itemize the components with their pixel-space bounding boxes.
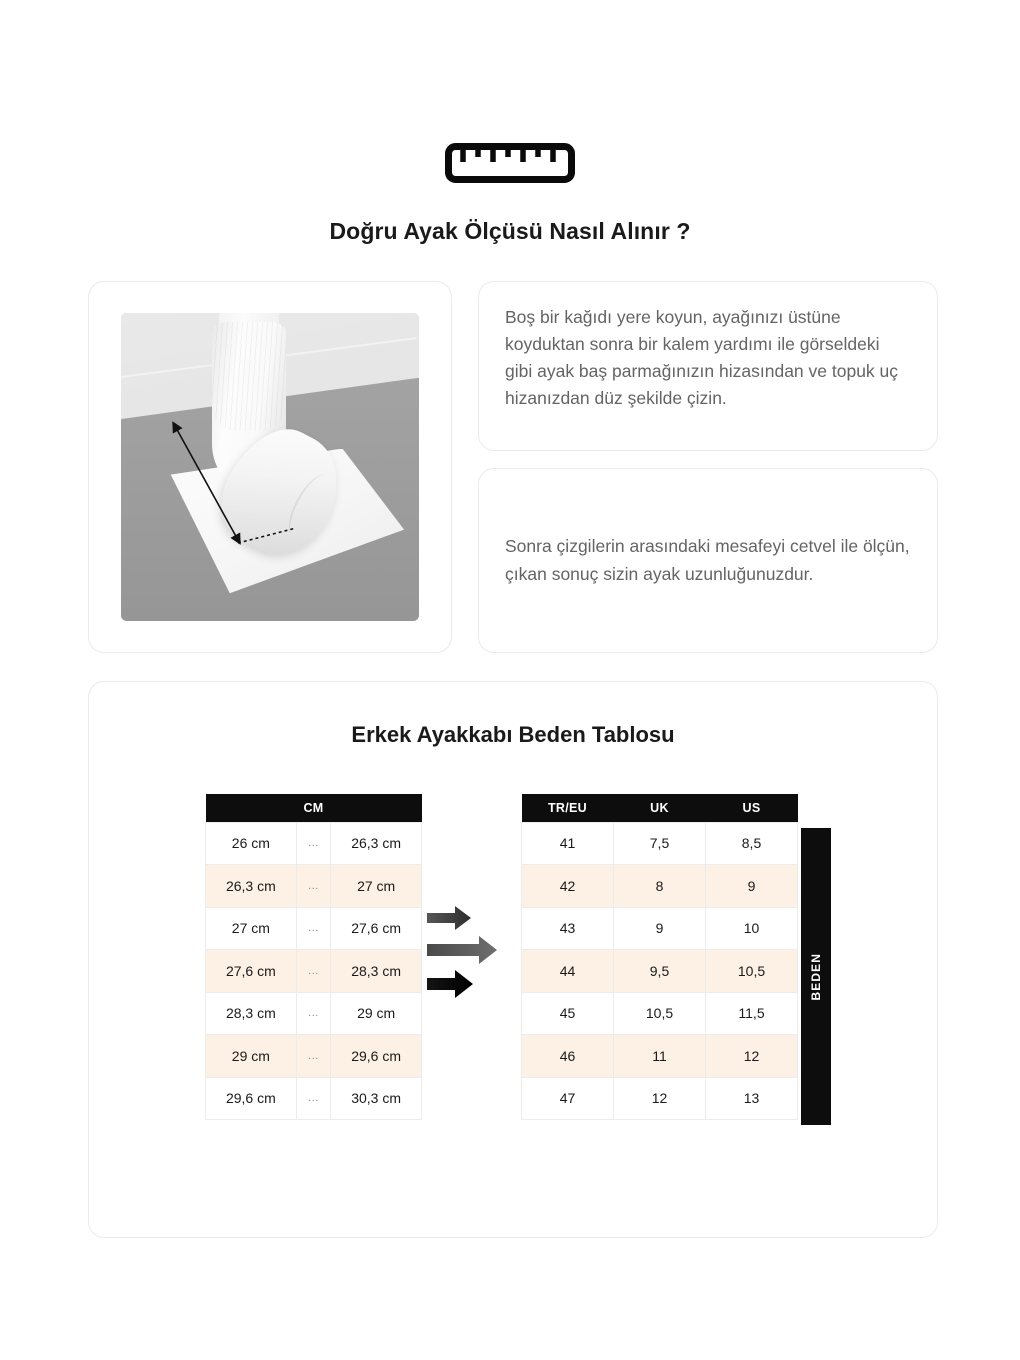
cm-to: 27,6 cm bbox=[331, 907, 422, 950]
table-row: 29,6 cm ... 30,3 cm bbox=[206, 1077, 422, 1120]
cell-us: 10,5 bbox=[706, 950, 798, 993]
size-table-body: 41 7,5 8,5 42 8 9 43 9 10 bbox=[522, 822, 798, 1120]
page-title: Doğru Ayak Ölçüsü Nasıl Alınır ? bbox=[0, 218, 1020, 245]
instruction-text-column: Boş bir kağıdı yere koyun, ayağınızı üst… bbox=[478, 281, 938, 653]
size-guide-page: Doğru Ayak Ölçüsü Nasıl Alınır ? bbox=[0, 0, 1020, 1360]
cell-uk: 7,5 bbox=[614, 822, 706, 865]
cm-from: 26,3 cm bbox=[206, 865, 297, 908]
cell-us: 10 bbox=[706, 907, 798, 950]
cm-table: CM 26 cm ... 26,3 cm 26,3 cm ... 27 cm bbox=[205, 794, 422, 1120]
cm-separator: ... bbox=[296, 822, 331, 865]
table-row: 28,3 cm ... 29 cm bbox=[206, 992, 422, 1035]
foot-measure-photo bbox=[121, 313, 419, 621]
cell-uk: 11 bbox=[614, 1035, 706, 1078]
cell-uk: 12 bbox=[614, 1077, 706, 1120]
table-row: 42 8 9 bbox=[522, 865, 798, 908]
table-row: 43 9 10 bbox=[522, 907, 798, 950]
ruler-icon-container bbox=[0, 143, 1020, 183]
cm-from: 27 cm bbox=[206, 907, 297, 950]
beden-side-label: BEDEN bbox=[801, 828, 831, 1125]
cm-from: 27,6 cm bbox=[206, 950, 297, 993]
cm-separator: ... bbox=[296, 907, 331, 950]
table-row: 26,3 cm ... 27 cm bbox=[206, 865, 422, 908]
cm-from: 29,6 cm bbox=[206, 1077, 297, 1120]
cm-to: 27 cm bbox=[331, 865, 422, 908]
cm-to: 29 cm bbox=[331, 992, 422, 1035]
table-row: 45 10,5 11,5 bbox=[522, 992, 798, 1035]
cell-uk: 9,5 bbox=[614, 950, 706, 993]
cm-table-header-row: CM bbox=[206, 794, 422, 822]
conversion-arrows bbox=[425, 904, 517, 1008]
cell-us: 13 bbox=[706, 1077, 798, 1120]
cell-treu: 42 bbox=[522, 865, 614, 908]
table-row: 44 9,5 10,5 bbox=[522, 950, 798, 993]
header-us: US bbox=[706, 794, 798, 822]
cell-us: 11,5 bbox=[706, 992, 798, 1035]
instructions-section: Boş bir kağıdı yere koyun, ayağınızı üst… bbox=[88, 281, 938, 653]
cm-table-body: 26 cm ... 26,3 cm 26,3 cm ... 27 cm 27 c… bbox=[206, 822, 422, 1120]
cm-header-cell: CM bbox=[206, 794, 422, 822]
cell-us: 8,5 bbox=[706, 822, 798, 865]
cell-uk: 10,5 bbox=[614, 992, 706, 1035]
photo-sock-ribs bbox=[212, 322, 287, 431]
cm-separator: ... bbox=[296, 992, 331, 1035]
cell-treu: 44 bbox=[522, 950, 614, 993]
cm-from: 28,3 cm bbox=[206, 992, 297, 1035]
cell-treu: 43 bbox=[522, 907, 614, 950]
cm-from: 29 cm bbox=[206, 1035, 297, 1078]
table-row: 41 7,5 8,5 bbox=[522, 822, 798, 865]
cell-treu: 47 bbox=[522, 1077, 614, 1120]
arrow-right-icon bbox=[427, 906, 471, 930]
cm-from: 26 cm bbox=[206, 822, 297, 865]
cell-treu: 46 bbox=[522, 1035, 614, 1078]
cell-uk: 9 bbox=[614, 907, 706, 950]
size-table-header-row: TR/EU UK US bbox=[522, 794, 798, 822]
table-row: 29 cm ... 29,6 cm bbox=[206, 1035, 422, 1078]
cm-to: 30,3 cm bbox=[331, 1077, 422, 1120]
instruction-card-2: Sonra çizgilerin arasındaki mesafeyi cet… bbox=[478, 468, 938, 653]
size-table-card: Erkek Ayakkabı Beden Tablosu CM 26 cm ..… bbox=[88, 681, 938, 1238]
beden-side-label-text: BEDEN bbox=[809, 953, 823, 1001]
arrow-group-icon bbox=[425, 904, 517, 1008]
size-table-title: Erkek Ayakkabı Beden Tablosu bbox=[89, 722, 937, 748]
cell-treu: 45 bbox=[522, 992, 614, 1035]
size-conversion-table: TR/EU UK US 41 7,5 8,5 42 8 9 bbox=[521, 794, 798, 1120]
header-treu: TR/EU bbox=[522, 794, 614, 822]
cm-to: 26,3 cm bbox=[331, 822, 422, 865]
cm-separator: ... bbox=[296, 950, 331, 993]
cm-separator: ... bbox=[296, 1077, 331, 1120]
table-row: 26 cm ... 26,3 cm bbox=[206, 822, 422, 865]
cell-treu: 41 bbox=[522, 822, 614, 865]
photo-card bbox=[88, 281, 452, 653]
cell-us: 9 bbox=[706, 865, 798, 908]
ruler-icon bbox=[445, 143, 575, 183]
table-row: 27 cm ... 27,6 cm bbox=[206, 907, 422, 950]
cm-to: 29,6 cm bbox=[331, 1035, 422, 1078]
cell-uk: 8 bbox=[614, 865, 706, 908]
arrow-right-icon bbox=[427, 970, 473, 998]
instruction-card-1: Boş bir kağıdı yere koyun, ayağınızı üst… bbox=[478, 281, 938, 451]
cm-separator: ... bbox=[296, 1035, 331, 1078]
table-row: 47 12 13 bbox=[522, 1077, 798, 1120]
table-row: 46 11 12 bbox=[522, 1035, 798, 1078]
cm-to: 28,3 cm bbox=[331, 950, 422, 993]
cell-us: 12 bbox=[706, 1035, 798, 1078]
table-row: 27,6 cm ... 28,3 cm bbox=[206, 950, 422, 993]
arrow-right-icon bbox=[427, 936, 497, 964]
cm-separator: ... bbox=[296, 865, 331, 908]
tables-row: CM 26 cm ... 26,3 cm 26,3 cm ... 27 cm bbox=[89, 794, 937, 1134]
header-uk: UK bbox=[614, 794, 706, 822]
